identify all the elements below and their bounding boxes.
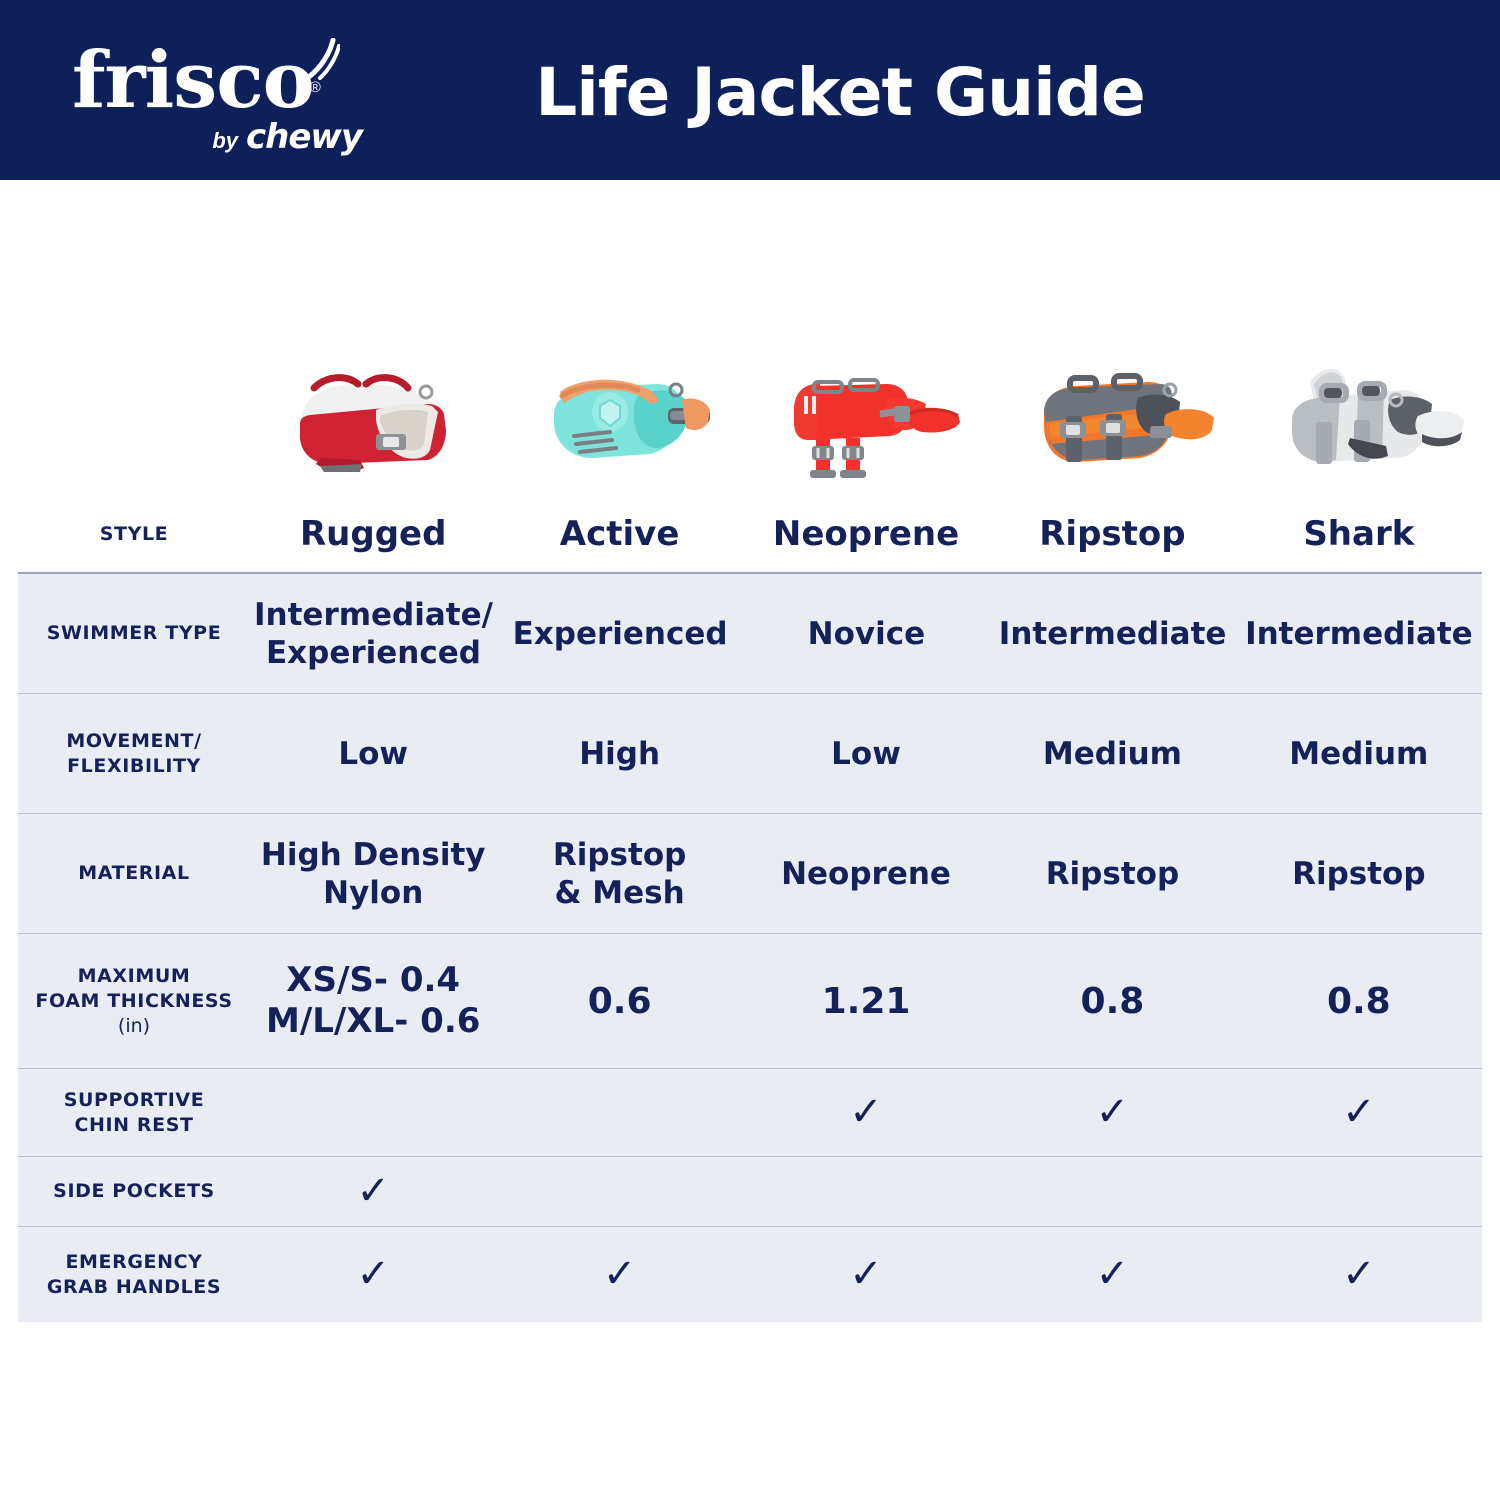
life-jacket-ripstop-icon — [1030, 360, 1220, 490]
swimmer-type-shark: Intermediate — [1236, 615, 1482, 653]
life-jacket-rugged-icon — [280, 360, 470, 490]
style-value-shark: Shark — [1236, 515, 1482, 553]
movement-neoprene: Low — [743, 735, 989, 773]
style-value-ripstop: Ripstop — [989, 515, 1235, 553]
table-row: SWIMMER TYPE Intermediate/Experienced Ex… — [18, 574, 1482, 694]
checkmark-icon: ✓ — [1096, 1092, 1130, 1132]
style-value-active: Active — [496, 515, 742, 553]
material-active: Ripstop& Mesh — [496, 836, 742, 912]
side-pockets-ripstop — [989, 1173, 1235, 1211]
table-row: EMERGENCYGRAB HANDLES ✓ ✓ ✓ ✓ ✓ — [18, 1227, 1482, 1322]
life-jacket-shark-icon — [1280, 360, 1470, 490]
checkmark-icon: ✓ — [1342, 1092, 1376, 1132]
foam-ripstop: 0.8 — [989, 980, 1235, 1023]
row-label-side-pockets: SIDE POCKETS — [18, 1179, 250, 1204]
product-image-neoprene — [750, 350, 1000, 500]
checkmark-icon: ✓ — [849, 1254, 883, 1294]
product-image-rugged — [250, 350, 500, 500]
checkmark-icon: ✓ — [603, 1254, 637, 1294]
foam-shark: 0.8 — [1236, 980, 1482, 1023]
grab-handles-neoprene: ✓ — [743, 1254, 989, 1296]
grab-handles-active: ✓ — [496, 1254, 742, 1296]
chin-rest-active — [496, 1094, 742, 1132]
side-pockets-neoprene — [743, 1173, 989, 1211]
table-row: SIDE POCKETS ✓ — [18, 1157, 1482, 1227]
product-image-shark — [1250, 350, 1500, 500]
chin-rest-neoprene: ✓ — [743, 1092, 989, 1134]
swimmer-type-ripstop: Intermediate — [990, 615, 1236, 653]
grab-handles-ripstop: ✓ — [989, 1254, 1235, 1296]
checkmark-icon: ✓ — [356, 1171, 390, 1211]
table-row: MOVEMENT/FLEXIBILITY Low High Low Medium… — [18, 694, 1482, 814]
table-style-header-row: STYLE Rugged Active Neoprene Ripstop Sha… — [18, 498, 1482, 570]
product-image-active — [500, 350, 750, 500]
product-image-row — [250, 350, 1500, 500]
foam-active: 0.6 — [496, 980, 742, 1023]
side-pockets-rugged: ✓ — [250, 1171, 496, 1213]
material-ripstop: Ripstop — [989, 855, 1235, 893]
row-label-movement-flexibility: MOVEMENT/FLEXIBILITY — [18, 729, 250, 779]
page-title: Life Jacket Guide — [0, 54, 1500, 131]
row-label-swimmer-type: SWIMMER TYPE — [18, 621, 250, 646]
swimmer-type-neoprene: Novice — [743, 615, 989, 653]
life-jacket-neoprene-icon — [780, 360, 970, 490]
grab-handles-shark: ✓ — [1236, 1254, 1482, 1296]
material-shark: Ripstop — [1236, 855, 1482, 893]
movement-active: High — [496, 735, 742, 773]
row-label-emergency-grab-handles: EMERGENCYGRAB HANDLES — [18, 1250, 250, 1300]
row-label-foam-thickness: MAXIMUMFOAM THICKNESS (in) — [18, 964, 250, 1039]
chin-rest-ripstop: ✓ — [989, 1092, 1235, 1134]
foam-rugged: XS/S- 0.4M/L/XL- 0.6 — [250, 960, 496, 1042]
row-label-foam-thickness-main: MAXIMUMFOAM THICKNESS — [35, 965, 232, 1012]
grab-handles-rugged: ✓ — [250, 1254, 496, 1296]
comparison-table: SWIMMER TYPE Intermediate/Experienced Ex… — [18, 572, 1482, 1322]
movement-rugged: Low — [250, 735, 496, 773]
side-pockets-active — [496, 1173, 742, 1211]
style-value-rugged: Rugged — [250, 515, 496, 553]
row-label-supportive-chin-rest: SUPPORTIVECHIN REST — [18, 1088, 250, 1138]
checkmark-icon: ✓ — [356, 1254, 390, 1294]
chin-rest-shark: ✓ — [1236, 1092, 1482, 1134]
movement-ripstop: Medium — [989, 735, 1235, 773]
style-value-neoprene: Neoprene — [743, 515, 989, 553]
side-pockets-shark — [1236, 1173, 1482, 1211]
page-header: frisco® bychewy Life Jacket Guide — [0, 0, 1500, 180]
life-jacket-active-icon — [530, 360, 720, 490]
material-neoprene: Neoprene — [743, 855, 989, 893]
row-label-style: STYLE — [18, 522, 250, 547]
chin-rest-rugged — [250, 1094, 496, 1132]
brand-by-text: by — [212, 128, 238, 153]
material-rugged: High DensityNylon — [250, 836, 496, 912]
table-row: MATERIAL High DensityNylon Ripstop& Mesh… — [18, 814, 1482, 934]
swimmer-type-active: Experienced — [497, 615, 743, 653]
checkmark-icon: ✓ — [1096, 1254, 1130, 1294]
table-row: SUPPORTIVECHIN REST ✓ ✓ ✓ — [18, 1069, 1482, 1157]
movement-shark: Medium — [1236, 735, 1482, 773]
swimmer-type-rugged: Intermediate/Experienced — [250, 596, 497, 672]
product-image-ripstop — [1000, 350, 1250, 500]
table-row: MAXIMUMFOAM THICKNESS (in) XS/S- 0.4M/L/… — [18, 934, 1482, 1069]
row-label-foam-thickness-unit: (in) — [18, 1014, 250, 1039]
checkmark-icon: ✓ — [849, 1092, 883, 1132]
checkmark-icon: ✓ — [1342, 1254, 1376, 1294]
row-label-material: MATERIAL — [18, 861, 250, 886]
foam-neoprene: 1.21 — [743, 980, 989, 1023]
